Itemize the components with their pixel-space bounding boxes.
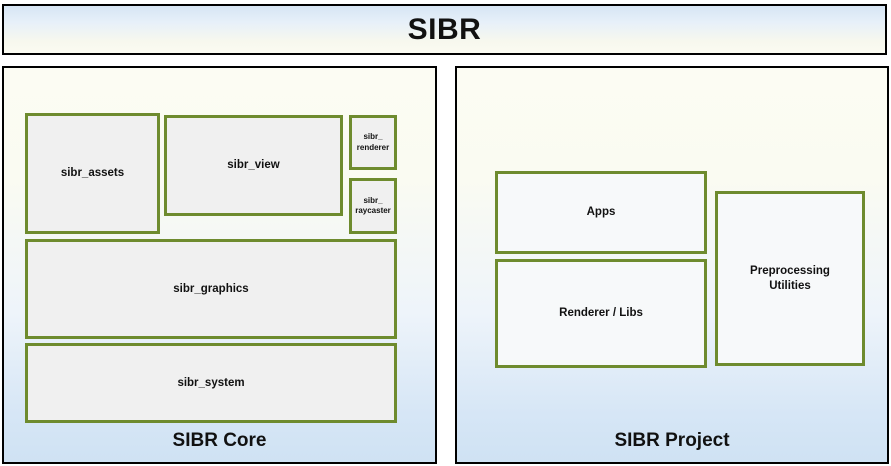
module-label-sibr-assets: sibr_assets <box>61 166 124 180</box>
panel-label-sibr-core: SIBR Core <box>4 430 435 452</box>
page-title: SIBR <box>408 13 482 47</box>
module-box-sibr-graphics[interactable]: sibr_graphics <box>25 239 397 339</box>
module-label-sibr-view: sibr_view <box>227 158 279 172</box>
panel-label-sibr-project: SIBR Project <box>457 430 887 452</box>
module-label-sibr-raycaster: sibr_ raycaster <box>355 196 391 217</box>
module-box-apps[interactable]: Apps <box>495 171 707 254</box>
module-label-renderer-libs: Renderer / Libs <box>559 306 643 320</box>
module-box-renderer-libs[interactable]: Renderer / Libs <box>495 259 707 368</box>
module-box-sibr-assets[interactable]: sibr_assets <box>25 113 160 234</box>
module-label-sibr-graphics: sibr_graphics <box>173 282 248 296</box>
module-label-preprocessing-utilities: Preprocessing Utilities <box>750 264 830 293</box>
module-label-sibr-renderer: sibr_ renderer <box>357 132 389 153</box>
panel-sibr-project: Apps Renderer / Libs Preprocessing Utili… <box>455 66 889 464</box>
module-label-apps: Apps <box>587 205 616 219</box>
title-banner: SIBR <box>2 4 887 55</box>
panel-sibr-core: sibr_assets sibr_view sibr_ renderer sib… <box>2 66 437 464</box>
module-box-sibr-view[interactable]: sibr_view <box>164 115 343 216</box>
module-box-preprocessing-utilities[interactable]: Preprocessing Utilities <box>715 191 865 366</box>
module-box-sibr-renderer[interactable]: sibr_ renderer <box>349 115 397 170</box>
module-label-sibr-system: sibr_system <box>177 376 244 390</box>
module-box-sibr-raycaster[interactable]: sibr_ raycaster <box>349 178 397 234</box>
module-box-sibr-system[interactable]: sibr_system <box>25 343 397 423</box>
